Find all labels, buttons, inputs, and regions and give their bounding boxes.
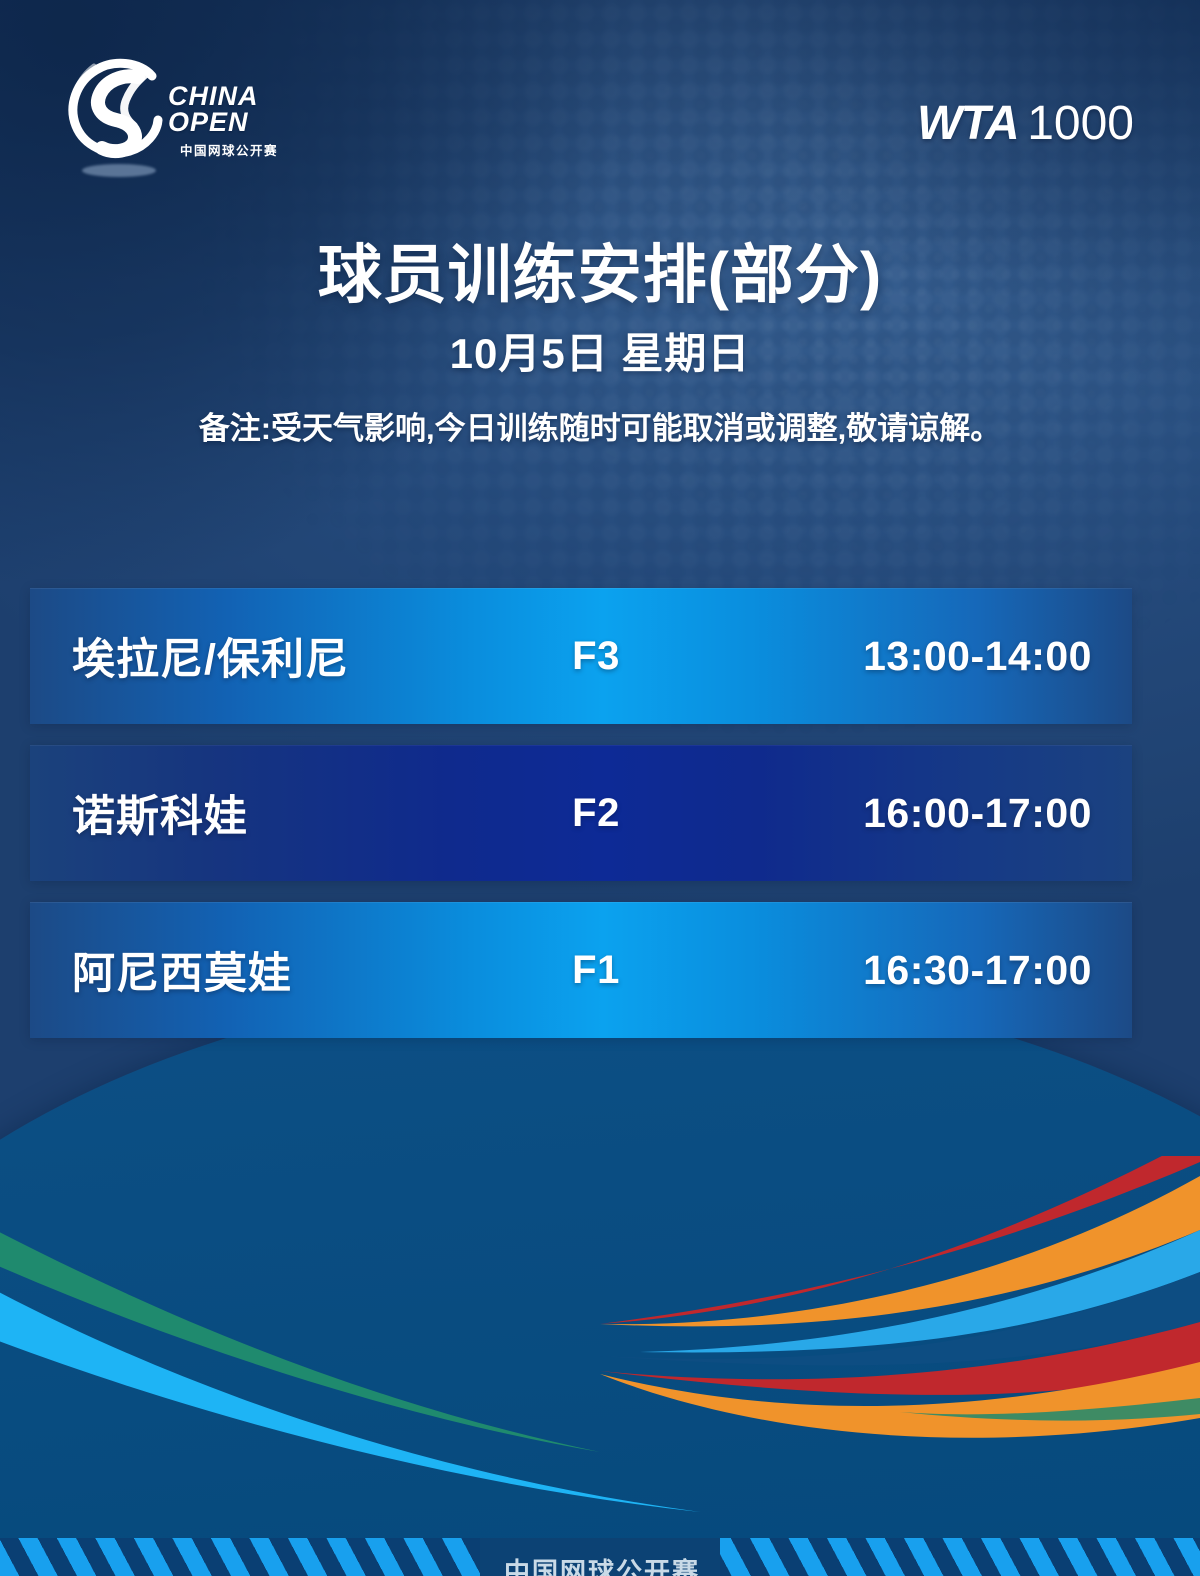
decorative-ribbons bbox=[0, 1156, 1200, 1576]
logo-shadow-ellipse bbox=[82, 164, 156, 177]
footer-cropped-text: 中国网球公开赛 bbox=[452, 1552, 752, 1576]
logo-chinese-name: 中国网球公开赛 bbox=[180, 140, 298, 159]
logo-line-open: OPEN bbox=[168, 110, 298, 136]
china-open-logo: CHINA OPEN 中国网球公开赛 bbox=[58, 52, 298, 182]
bottom-stripe-band: 中国网球公开赛 bbox=[0, 1538, 1200, 1576]
schedule-table: 埃拉尼/保利尼 F3 13:00-14:00 诺斯科娃 F2 16:00-17:… bbox=[30, 588, 1132, 1059]
table-row: 诺斯科娃 F2 16:00-17:00 bbox=[30, 745, 1132, 881]
china-open-brush-s-logo-icon bbox=[64, 54, 172, 162]
wta-wordmark: WTA bbox=[917, 96, 1018, 151]
table-row: 埃拉尼/保利尼 F3 13:00-14:00 bbox=[30, 588, 1132, 724]
wta-tier-number: 1000 bbox=[1027, 96, 1134, 151]
training-schedule-poster: CHINA OPEN 中国网球公开赛 WTA 1000 球员训练安排(部分) 1… bbox=[0, 0, 1200, 1576]
china-open-wordmark: CHINA OPEN 中国网球公开赛 bbox=[168, 84, 298, 159]
table-row: 阿尼西莫娃 F1 16:30-17:00 bbox=[30, 902, 1132, 1038]
schedule-date: 10月5日 星期日 bbox=[0, 320, 1200, 381]
row-time-slot: 16:00-17:00 bbox=[863, 790, 1092, 837]
row-time-slot: 16:30-17:00 bbox=[863, 947, 1092, 994]
ribbon-lightblue-left bbox=[0, 1282, 700, 1512]
row-time-slot: 13:00-14:00 bbox=[863, 633, 1092, 680]
wta-1000-logo: WTA 1000 bbox=[917, 96, 1134, 151]
poster-header: CHINA OPEN 中国网球公开赛 WTA 1000 bbox=[0, 0, 1200, 210]
page-title: 球员训练安排(部分) bbox=[0, 240, 1200, 312]
title-block: 球员训练安排(部分) 10月5日 星期日 备注:受天气影响,今日训练随时可能取消… bbox=[0, 240, 1200, 448]
weather-disclaimer-note: 备注:受天气影响,今日训练随时可能取消或调整,敬请谅解。 bbox=[0, 403, 1200, 448]
